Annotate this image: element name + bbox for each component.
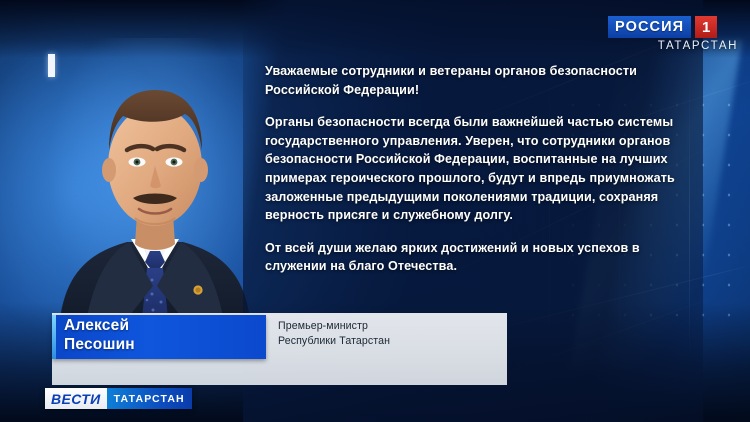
speaker-role: Премьер-министр Республики Татарстан	[278, 319, 390, 348]
channel-number-badge: 1	[695, 16, 717, 38]
speech-paragraph-1: Уважаемые сотрудники и ветераны органов …	[265, 62, 695, 99]
program-region: ТАТАРСТАН	[107, 388, 192, 409]
speaker-last-name: Песошин	[64, 336, 135, 355]
channel-name: РОССИЯ	[608, 16, 691, 38]
channel-logo-row: РОССИЯ 1	[608, 16, 717, 38]
channel-region: ТАТАРСТАН	[658, 40, 738, 52]
name-bar-accent	[52, 315, 56, 359]
portrait-illustration	[57, 46, 253, 329]
speech-paragraph-2: Органы безопасности всегда были важнейше…	[265, 113, 695, 225]
speech-paragraph-3: От всей души желаю ярких достижений и но…	[265, 239, 695, 276]
speaker-portrait	[57, 46, 253, 329]
speaker-name: Алексей Песошин	[64, 317, 135, 354]
speech-text: Уважаемые сотрудники и ветераны органов …	[265, 62, 695, 276]
channel-logo: РОССИЯ 1 ТАТАРСТАН	[608, 16, 740, 58]
speaker-role-line1: Премьер-министр	[278, 319, 390, 334]
program-brand: ВЕСТИ	[45, 388, 107, 409]
speaker-role-line2: Республики Татарстан	[278, 334, 390, 349]
program-badge: ВЕСТИ ТАТАРСТАН	[45, 388, 192, 409]
speaker-first-name: Алексей	[64, 317, 135, 336]
lower-third: Алексей Песошин Премьер-министр Республи…	[52, 313, 507, 385]
broadcast-screen: Уважаемые сотрудники и ветераны органов …	[0, 0, 750, 422]
